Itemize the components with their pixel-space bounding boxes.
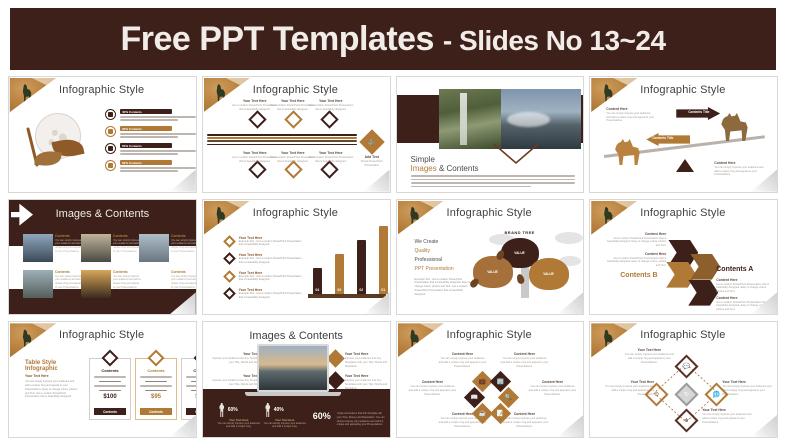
giraffe-photo-corner-icon [204, 201, 250, 235]
banner-title-sub: - Slides No 13~24 [443, 25, 666, 56]
corner-fold [9, 77, 57, 113]
list-item[interactable]: Your Text Here Example Text : Get a mode… [225, 236, 309, 248]
deer-left-graphic [612, 139, 640, 165]
card-price: $150 [182, 394, 197, 400]
slide-thumbnail-15[interactable]: Simple Images & Contents [396, 76, 585, 193]
cell-caption: ContentsYou can simply impress your audi… [55, 234, 83, 254]
stat-caption: Your Text Here You can simply impress yo… [217, 418, 261, 429]
slide-thumbnail-20[interactable]: Infographic Style Content HereGet a mode… [589, 199, 778, 316]
seesaw-pivot [676, 159, 694, 172]
diamond-marker [223, 252, 236, 265]
slide-thumbnail-13[interactable]: Infographic Style 40% Contents [8, 76, 197, 193]
chart-icon [105, 126, 116, 137]
giraffe-photo-corner-icon [398, 323, 444, 357]
sunset-silhouette-photo [81, 270, 111, 298]
bar-number: 02 [359, 288, 363, 292]
page-title: Infographic Style [640, 207, 725, 219]
node-caption: Content HereYou can simply impress your … [501, 352, 549, 368]
node-caption: Your Text HereYou can simply impress you… [622, 348, 676, 364]
chevron-down-icon [493, 143, 539, 165]
cell-caption: ContentsYou can simply impress your audi… [113, 234, 141, 254]
chevron-shape[interactable] [688, 280, 718, 306]
slides-grid: Infographic Style 40% Contents [6, 76, 780, 438]
side-body: You can simply impress your audience and… [25, 380, 79, 399]
slide-thumbnail-24[interactable]: Infographic Style Your Text HereYou can … [589, 321, 778, 438]
slide-thumbnail-14[interactable]: Infographic Style ⚓ Your Text HereGet a … [202, 76, 391, 193]
beach-dusk-photo [81, 234, 111, 262]
title-line-2: Images & Contents [411, 164, 479, 173]
title-line-1: Simple [411, 155, 479, 164]
item-body: Example Text : Get a modern PowerPoint P… [239, 275, 303, 283]
leaf-small [34, 150, 61, 168]
item-label: 40% Contents [122, 110, 142, 114]
content-list: Your Text Here Example Text : Get a mode… [225, 236, 309, 306]
corner-caption: Your Text HereImpress your Audience free… [345, 352, 391, 368]
corner-fold-bottom-right [364, 170, 390, 192]
giraffe-photo-corner-icon [591, 201, 637, 235]
list-item[interactable]: 50% Contents [105, 143, 193, 155]
arrow-left-label: Contents Title [652, 136, 673, 140]
label-contents-a: Contents A [716, 266, 753, 273]
card-price: $95 [136, 394, 176, 400]
caption-right: Content HereYou can simply impress your … [714, 161, 766, 177]
slide-thumbnail-23[interactable]: Infographic Style Content HereYou can si… [396, 321, 585, 438]
timeline-end-node[interactable]: ⚓ [359, 129, 384, 154]
bar-number: 01 [381, 288, 385, 292]
bar-number: 04 [315, 288, 319, 292]
node-caption: Content HereYou can simply impress your … [529, 380, 577, 396]
node-caption: Your Text HereGet a modern PowerPoint Pr… [307, 99, 355, 111]
card-button[interactable]: Contents [140, 408, 172, 415]
sea-rocks-photo [501, 89, 581, 149]
briefcase-icon [105, 109, 116, 120]
page-title: Infographic Style [640, 84, 725, 96]
cell-caption: ContentsYou can simply impress your audi… [55, 270, 83, 290]
timeline-rails [207, 134, 357, 150]
caption-left: Content HereYou can simply impress your … [606, 107, 654, 123]
card-header: Contents [182, 359, 197, 373]
cell-caption: ContentsYou can simply impress your audi… [171, 234, 197, 254]
bar-number: 03 [337, 288, 341, 292]
item-body: Example Text : Get a modern PowerPoint P… [239, 240, 303, 248]
side-title-2: Infographic [25, 366, 79, 372]
page-title: Images & Contents [203, 330, 390, 342]
node-caption: Your Text HereYou can simply impress you… [702, 408, 756, 424]
deer-right-graphic [718, 113, 748, 141]
globe-icon [105, 143, 116, 154]
headline-block: We Create Quality Professional PPT Prese… [415, 238, 471, 297]
lake-dock-photo [23, 270, 53, 298]
laptop-base [245, 392, 341, 396]
bar-column[interactable]: 02 [357, 240, 366, 294]
headline-line: We Create [415, 238, 471, 247]
side-sub: Your Text Here [25, 374, 79, 378]
card-button[interactable]: Contents [186, 408, 197, 415]
diamond-marker [223, 270, 236, 283]
waterfall-photo [439, 89, 501, 149]
page-title: Infographic Style [59, 84, 144, 96]
list-item[interactable]: 30% Contents [105, 126, 193, 138]
corner-fold-bottom-right [557, 415, 583, 437]
slide-thumbnail-16[interactable]: Infographic Style Contents Title Content… [589, 76, 778, 193]
page-title: Infographic Style [59, 329, 144, 341]
slide-thumbnail-21[interactable]: Infographic Style Table Style Infographi… [8, 321, 197, 438]
corner-fold-bottom-right [557, 292, 583, 314]
slide-thumbnail-22[interactable]: Images & Contents Your Text HereImpress … [202, 321, 391, 438]
title-block: Simple Images & Contents [411, 155, 479, 173]
slide-thumbnail-18[interactable]: Infographic Style Your Text Here Example… [202, 199, 391, 316]
stat-value: 60% [228, 407, 238, 413]
headline-line: PPT Presentation [415, 265, 471, 274]
side-text-block: Table Style Infographic Your Text Here Y… [25, 360, 79, 399]
price-card[interactable]: Contents $95 Contents [135, 358, 177, 420]
tree-label: BRAND TREE [505, 230, 535, 235]
node-caption: Content HereYou can simply impress your … [439, 352, 487, 368]
stat-block: 40% [265, 403, 284, 417]
stat-value: 40% [274, 407, 284, 413]
list-item[interactable]: Your Text Here Example Text : Get a mode… [225, 253, 309, 265]
banner-title-main: Free PPT Templates [120, 20, 434, 58]
giraffe-photo-corner-icon [10, 323, 56, 357]
page-title: Infographic Style [447, 329, 532, 341]
body-text [411, 175, 575, 187]
label-contents-b: Contents B [620, 272, 657, 279]
timeline-node[interactable] [320, 110, 338, 128]
diamond-marker [326, 350, 344, 368]
feature-value: 60% [313, 411, 331, 421]
template-gallery-page: Free PPT Templates - Slides No 13~24 Inf… [0, 0, 786, 445]
diamond-marker [326, 372, 344, 390]
left-block: Content HereGet a modern PowerPoint Pres… [604, 252, 666, 268]
bar-column[interactable]: 03 [335, 254, 344, 294]
left-block: Content HereGet a modern PowerPoint Pres… [604, 232, 666, 248]
stat-block: 60% [219, 403, 238, 417]
pier-winter-photo [23, 234, 53, 262]
corner-caption: Your Text HereImpress your Audience free… [345, 374, 391, 390]
diamond-marker [223, 287, 236, 300]
item-body: Example Text : Get a modern PowerPoint P… [239, 257, 303, 265]
page-title: Infographic Style [640, 329, 725, 341]
headline-line: Quality [415, 247, 471, 256]
bar-column[interactable]: 04 [313, 268, 322, 294]
golden-sea-photo [139, 270, 169, 298]
bar-baseline [308, 294, 386, 298]
item-body: Example Text : Get a modern PowerPoint P… [239, 292, 303, 300]
right-block: Content HereGet a modern PowerPoint Pres… [716, 278, 772, 294]
list-item[interactable]: Your Text Here Example Text : Get a mode… [225, 288, 309, 300]
person-icon [265, 403, 271, 417]
price-card[interactable]: Contents $150 Contents [181, 358, 197, 420]
value-blob[interactable]: VALUE [529, 258, 569, 290]
content-list: 40% Contents 30% Contents [105, 109, 193, 177]
diamond-marker [223, 235, 236, 248]
item-label: 50% Contents [122, 144, 142, 148]
timeline-node[interactable] [284, 110, 302, 128]
bar-column[interactable]: 01 [379, 226, 388, 294]
node-caption: Content HereYou can simply impress your … [409, 380, 457, 396]
feature-body: I hope and believe that this Template wi… [337, 412, 387, 427]
stat-caption: Your Text Here You can simply impress yo… [263, 418, 307, 429]
price-card[interactable]: Contents $100 Contents [89, 358, 131, 420]
card-price: $100 [90, 394, 130, 400]
slide-thumbnail-19[interactable]: Infographic Style We Create Quality Prof… [396, 199, 585, 316]
page-title: Images & Contents [9, 208, 196, 220]
headline-line: Professional [415, 256, 471, 265]
item-label: 30% Contents [122, 127, 142, 131]
list-item[interactable]: Your Text Here Example Text : Get a mode… [225, 271, 309, 283]
page-title: Infographic Style [253, 84, 338, 96]
page-title: Infographic Style [447, 207, 532, 219]
cloud-icon [555, 232, 583, 244]
idea-icon [105, 160, 116, 171]
item-label: 60% Contents [122, 161, 142, 165]
node-caption: Your Text HereYou can simply impress you… [722, 380, 772, 396]
arrow-right-label: Contents Title [688, 110, 709, 114]
banner-title: Free PPT Templates - Slides No 13~24 [120, 20, 665, 59]
cell-caption: ContentsYou can simply impress your audi… [171, 270, 197, 290]
card-button[interactable]: Contents [94, 408, 126, 415]
timeline-node[interactable] [248, 110, 266, 128]
header-banner: Free PPT Templates - Slides No 13~24 [10, 8, 776, 70]
headline-body: Example Text : Get a modern PowerPoint P… [415, 278, 471, 297]
list-item[interactable]: 60% Contents [105, 160, 193, 172]
page-title: Infographic Style [253, 207, 338, 219]
laptop-graphic [257, 344, 329, 392]
end-node-caption: Add TextSimple PowerPoint Presentation [355, 155, 389, 167]
giraffe-photo-corner-icon [398, 201, 444, 235]
list-item[interactable]: 40% Contents [105, 109, 193, 121]
clouds-photo [139, 234, 169, 262]
person-icon [219, 403, 225, 417]
node-caption: Your Text HereGet a modern PowerPoint Pr… [307, 151, 355, 163]
cell-caption: ContentsYou can simply impress your audi… [113, 270, 141, 290]
corner-fold-bottom-right [170, 292, 196, 314]
slide-thumbnail-17[interactable]: Images & Contents ContentsYou can simply… [8, 199, 197, 316]
